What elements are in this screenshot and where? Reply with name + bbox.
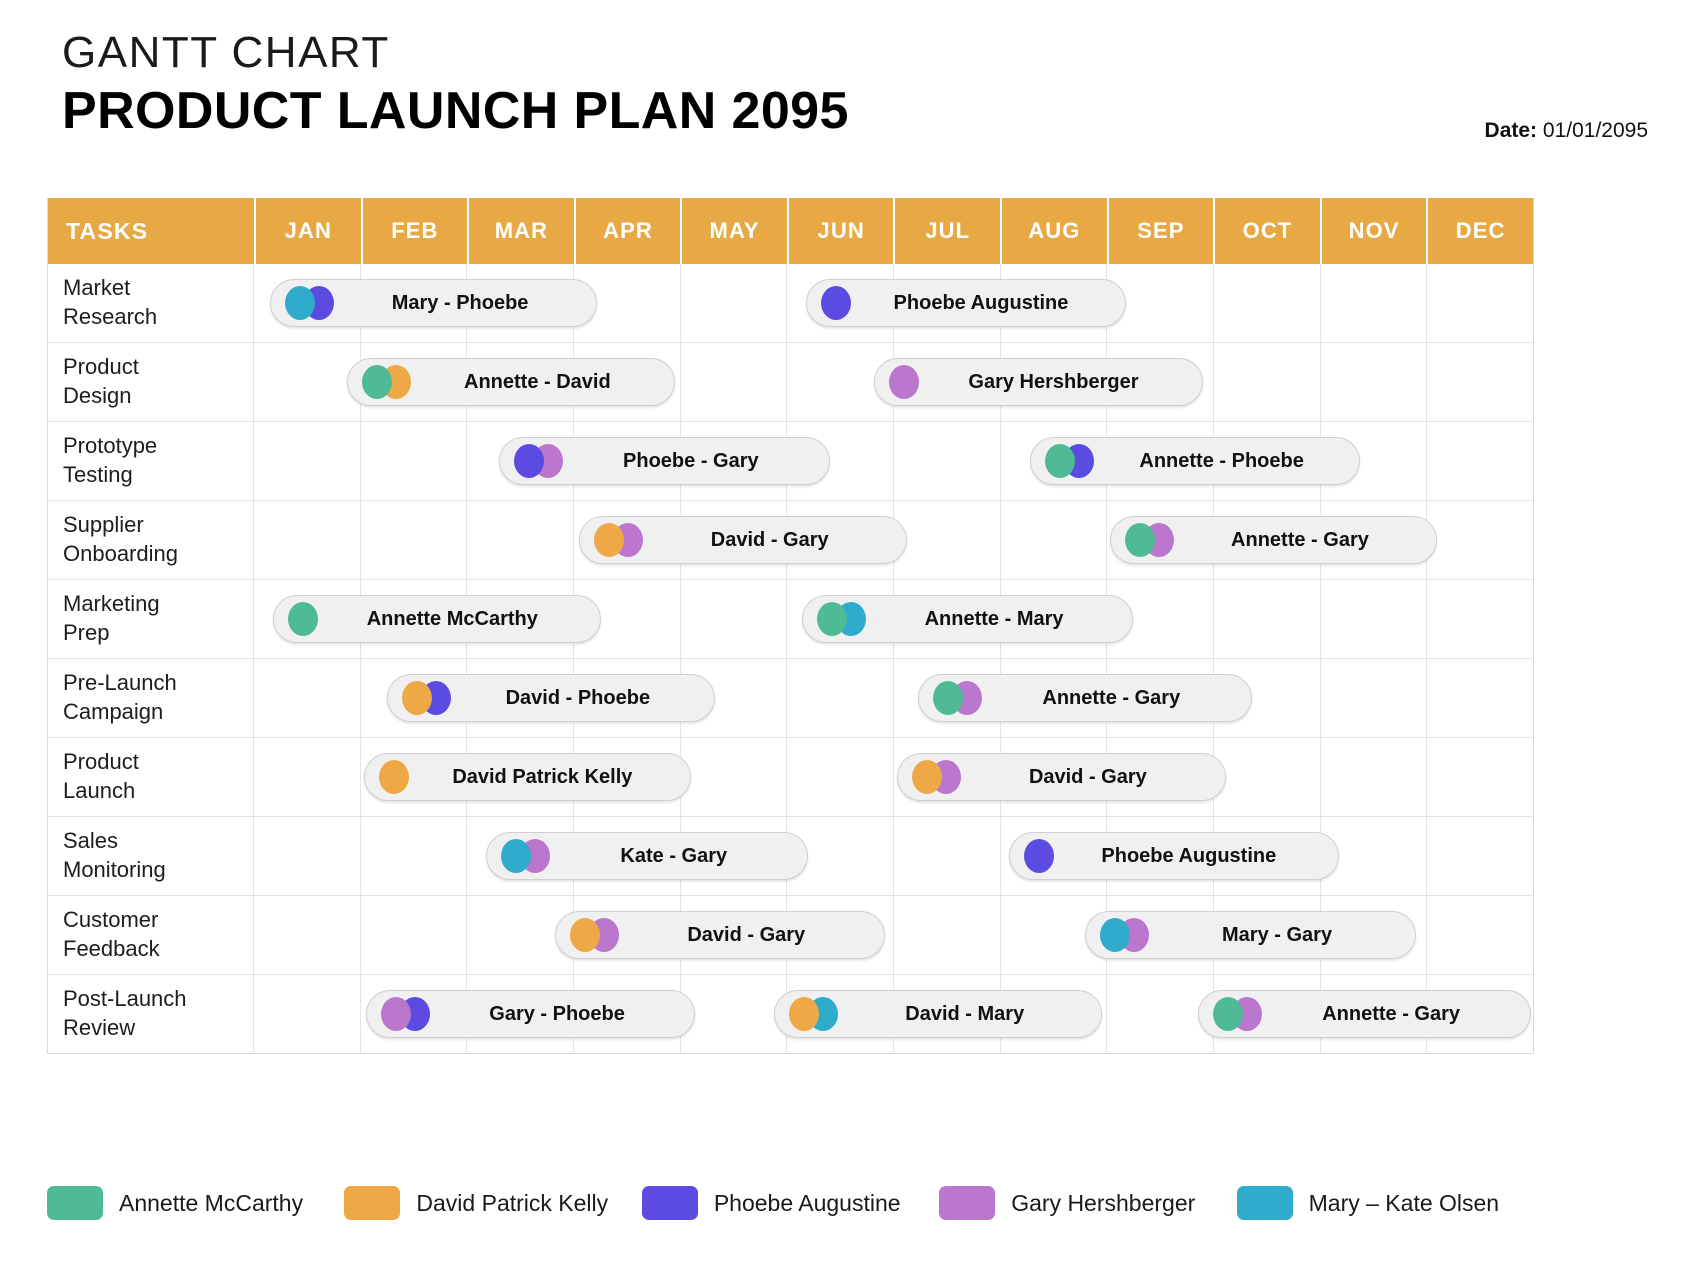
gridline	[894, 817, 1001, 895]
gantt-bar-label: Mary - Phoebe	[334, 292, 596, 315]
gridline	[361, 501, 468, 579]
assignee-avatars	[570, 918, 619, 952]
task-name-cell: MarketResearch	[48, 264, 254, 342]
gridline	[1001, 501, 1108, 579]
legend-label: Phoebe Augustine	[714, 1190, 901, 1217]
task-name-cell: SupplierOnboarding	[48, 501, 254, 579]
timeline-lane: Gary - PhoebeDavid - MaryAnnette - Gary	[254, 975, 1533, 1053]
gridline	[361, 896, 468, 974]
gridline	[1427, 580, 1533, 658]
gantt-bar-label: Annette - Phoebe	[1094, 450, 1359, 473]
assignee-dot-icon	[379, 760, 409, 794]
assignee-dot-icon	[570, 918, 600, 952]
gridline	[1321, 264, 1428, 342]
gantt-bar-label: Gary - Phoebe	[430, 1003, 694, 1026]
gantt-bar-label: Annette - Gary	[1262, 1003, 1530, 1026]
page-title: PRODUCT LAUNCH PLAN 2095	[62, 82, 849, 142]
assignee-avatars	[514, 444, 563, 478]
gantt-bar[interactable]: David - Gary	[579, 516, 907, 564]
task-name-line: Pre-Launch	[63, 669, 253, 698]
table-body: MarketResearchMary - PhoebePhoebe August…	[48, 264, 1533, 1053]
gridline	[787, 659, 894, 737]
table-row: MarketingPrepAnnette McCarthyAnnette - M…	[48, 579, 1533, 658]
gantt-bar[interactable]: David - Gary	[555, 911, 885, 959]
assignee-avatars	[594, 523, 643, 557]
month-header-may: MAY	[680, 198, 787, 264]
gantt-bar-label: Annette - Mary	[866, 608, 1132, 631]
gantt-bar-label: Phoebe - Gary	[563, 450, 828, 473]
table-row: PrototypeTestingPhoebe - GaryAnnette - P…	[48, 421, 1533, 500]
timeline-lane: David - GaryMary - Gary	[254, 896, 1533, 974]
legend-label: Gary Hershberger	[1011, 1190, 1195, 1217]
gridline	[1321, 580, 1428, 658]
assignee-dot-icon	[288, 602, 318, 636]
table-row: ProductDesignAnnette - DavidGary Hershbe…	[48, 342, 1533, 421]
month-header-oct: OCT	[1213, 198, 1320, 264]
assignee-dot-icon	[1213, 997, 1243, 1031]
assignee-avatars	[1045, 444, 1094, 478]
timeline-lane: Phoebe - GaryAnnette - Phoebe	[254, 422, 1533, 500]
month-header-jan: JAN	[254, 198, 361, 264]
task-name-line: Prep	[63, 619, 253, 648]
legend-label: Mary – Kate Olsen	[1309, 1190, 1499, 1217]
timeline-lane: David - GaryAnnette - Gary	[254, 501, 1533, 579]
gantt-bar-label: Phoebe Augustine	[1054, 845, 1338, 868]
assignee-avatars	[362, 365, 411, 399]
assignee-avatars	[1024, 839, 1054, 873]
legend-item-annette: Annette McCarthy	[47, 1186, 344, 1220]
assignee-dot-icon	[933, 681, 963, 715]
date-value: 01/01/2095	[1543, 119, 1648, 142]
gridline	[1427, 659, 1533, 737]
gridline	[894, 501, 1001, 579]
month-header-feb: FEB	[361, 198, 468, 264]
month-header-jun: JUN	[787, 198, 894, 264]
assignee-dot-icon	[889, 365, 919, 399]
month-header-nov: NOV	[1320, 198, 1427, 264]
gridline	[1214, 343, 1321, 421]
legend-label: Annette McCarthy	[119, 1190, 303, 1217]
assignee-avatars	[501, 839, 550, 873]
timeline-lane: Mary - PhoebePhoebe Augustine	[254, 264, 1533, 342]
assignee-dot-icon	[594, 523, 624, 557]
gantt-bar-label: David - Gary	[619, 924, 884, 947]
assignee-dot-icon	[821, 286, 851, 320]
gridline	[1214, 580, 1321, 658]
gantt-bar[interactable]: David - Gary	[897, 753, 1226, 801]
gridline	[1427, 896, 1533, 974]
task-name-line: Monitoring	[63, 856, 253, 885]
timeline-lane: Annette McCarthyAnnette - Mary	[254, 580, 1533, 658]
gridline	[681, 738, 788, 816]
gridline	[254, 975, 361, 1053]
month-header-mar: MAR	[467, 198, 574, 264]
gridline	[254, 422, 361, 500]
assignee-dot-icon	[285, 286, 315, 320]
gridline	[1427, 817, 1533, 895]
legend-swatch	[344, 1186, 400, 1220]
table-header-row: TASKS JANFEBMARAPRMAYJUNJULAUGSEPOCTNOVD…	[48, 198, 1533, 264]
assignee-avatars	[288, 602, 318, 636]
table-row: SalesMonitoringKate - GaryPhoebe Augusti…	[48, 816, 1533, 895]
gridline	[1321, 343, 1428, 421]
assignee-avatars	[381, 997, 430, 1031]
assignee-avatars	[402, 681, 451, 715]
assignee-dot-icon	[912, 760, 942, 794]
gridline	[1427, 738, 1533, 816]
gantt-bar-label: Mary - Gary	[1149, 924, 1414, 947]
gantt-bar[interactable]: Annette - David	[347, 358, 675, 406]
gridline	[361, 817, 468, 895]
task-name-line: Prototype	[63, 432, 253, 461]
date-block: Date: 01/01/2095	[1485, 119, 1648, 143]
legend-item-david: David Patrick Kelly	[344, 1186, 641, 1220]
gantt-bar[interactable]: Phoebe Augustine	[1009, 832, 1339, 880]
legend-swatch	[1237, 1186, 1293, 1220]
task-name-cell: ProductDesign	[48, 343, 254, 421]
task-name-line: Customer	[63, 906, 253, 935]
timeline-lane: David Patrick KellyDavid - Gary	[254, 738, 1533, 816]
gridline	[254, 659, 361, 737]
assignee-dot-icon	[514, 444, 544, 478]
legend-swatch	[939, 1186, 995, 1220]
task-name-line: Design	[63, 382, 253, 411]
task-name-line: Launch	[63, 777, 253, 806]
gantt-bar[interactable]: Gary Hershberger	[874, 358, 1202, 406]
gridline	[787, 738, 894, 816]
kicker-label: GANTT CHART	[62, 30, 849, 76]
gantt-bar[interactable]: Gary - Phoebe	[366, 990, 695, 1038]
legend-item-mary: Mary – Kate Olsen	[1237, 1186, 1534, 1220]
gantt-bar-label: Annette McCarthy	[318, 608, 600, 631]
assignee-dot-icon	[1125, 523, 1155, 557]
table-row: Pre-LaunchCampaignDavid - PhoebeAnnette …	[48, 658, 1533, 737]
gridline	[361, 422, 468, 500]
month-gridlines	[254, 817, 1533, 895]
gantt-bar[interactable]: Kate - Gary	[486, 832, 808, 880]
gantt-chart-page: GANTT CHART PRODUCT LAUNCH PLAN 2095 Dat…	[0, 0, 1700, 1275]
task-name-line: Research	[63, 303, 253, 332]
gantt-bar[interactable]: Annette - Mary	[802, 595, 1133, 643]
assignee-dot-icon	[1045, 444, 1075, 478]
timeline-lane: David - PhoebeAnnette - Gary	[254, 659, 1533, 737]
gridline	[681, 343, 788, 421]
timeline-lane: Annette - DavidGary Hershberger	[254, 343, 1533, 421]
gantt-bar-label: Annette - David	[411, 371, 674, 394]
legend-swatch	[47, 1186, 103, 1220]
gantt-bar-label: Gary Hershberger	[919, 371, 1201, 394]
gantt-bar-label: David - Gary	[961, 766, 1225, 789]
assignee-dot-icon	[1024, 839, 1054, 873]
assignee-dot-icon	[1100, 918, 1130, 952]
assignee-dot-icon	[501, 839, 531, 873]
gridline	[254, 896, 361, 974]
legend-label: David Patrick Kelly	[416, 1190, 608, 1217]
gridline	[254, 501, 361, 579]
task-name-line: Campaign	[63, 698, 253, 727]
legend-swatch	[642, 1186, 698, 1220]
gantt-bar[interactable]: Annette McCarthy	[273, 595, 601, 643]
assignee-avatars	[1213, 997, 1262, 1031]
gridline	[254, 817, 361, 895]
gantt-bar[interactable]: Annette - Gary	[918, 674, 1252, 722]
task-name-line: Supplier	[63, 511, 253, 540]
gantt-bar[interactable]: David - Phoebe	[387, 674, 715, 722]
gantt-bar-label: David Patrick Kelly	[409, 766, 690, 789]
task-name-line: Testing	[63, 461, 253, 490]
gridline	[894, 896, 1001, 974]
task-name-line: Sales	[63, 827, 253, 856]
gantt-bar[interactable]: Mary - Gary	[1085, 911, 1415, 959]
title-block: GANTT CHART PRODUCT LAUNCH PLAN 2095	[62, 30, 849, 142]
table-row: SupplierOnboardingDavid - GaryAnnette - …	[48, 500, 1533, 579]
month-header-jul: JUL	[893, 198, 1000, 264]
task-name-line: Feedback	[63, 935, 253, 964]
task-name-cell: PrototypeTesting	[48, 422, 254, 500]
gridline	[1214, 264, 1321, 342]
assignee-avatars	[1125, 523, 1174, 557]
legend: Annette McCarthyDavid Patrick KellyPhoeb…	[47, 1186, 1534, 1220]
gridline	[1214, 738, 1321, 816]
assignee-avatars	[789, 997, 838, 1031]
gantt-bar[interactable]: David Patrick Kelly	[364, 753, 691, 801]
gantt-bar-label: David - Phoebe	[451, 687, 714, 710]
table-row: ProductLaunchDavid Patrick KellyDavid - …	[48, 737, 1533, 816]
assignee-avatars	[1100, 918, 1149, 952]
task-name-line: Onboarding	[63, 540, 253, 569]
gridline	[681, 975, 788, 1053]
gridline	[1427, 343, 1533, 421]
assignee-dot-icon	[817, 602, 847, 636]
gantt-bar-label: David - Mary	[838, 1003, 1101, 1026]
task-name-cell: Pre-LaunchCampaign	[48, 659, 254, 737]
assignee-avatars	[912, 760, 961, 794]
table-row: Post-LaunchReviewGary - PhoebeDavid - Ma…	[48, 974, 1533, 1053]
tasks-column-header: TASKS	[48, 198, 254, 264]
task-name-cell: ProductLaunch	[48, 738, 254, 816]
assignee-avatars	[933, 681, 982, 715]
task-name-cell: Post-LaunchReview	[48, 975, 254, 1053]
table-row: MarketResearchMary - PhoebePhoebe August…	[48, 264, 1533, 342]
gantt-bar[interactable]: Mary - Phoebe	[270, 279, 597, 327]
date-label: Date:	[1485, 119, 1538, 142]
task-name-cell: SalesMonitoring	[48, 817, 254, 895]
task-name-cell: CustomerFeedback	[48, 896, 254, 974]
month-header-dec: DEC	[1426, 198, 1533, 264]
month-header-apr: APR	[574, 198, 681, 264]
gridline	[1427, 264, 1533, 342]
task-name-cell: MarketingPrep	[48, 580, 254, 658]
gantt-bar-label: Annette - Gary	[982, 687, 1251, 710]
assignee-dot-icon	[402, 681, 432, 715]
task-name-line: Post-Launch	[63, 985, 253, 1014]
gantt-bar-label: Kate - Gary	[550, 845, 807, 868]
assignee-dot-icon	[381, 997, 411, 1031]
gantt-bar-label: Annette - Gary	[1174, 529, 1436, 552]
gridline	[681, 580, 788, 658]
assignee-avatars	[379, 760, 409, 794]
assignee-avatars	[889, 365, 919, 399]
task-name-line: Review	[63, 1014, 253, 1043]
gantt-bar[interactable]: Phoebe Augustine	[806, 279, 1126, 327]
gantt-bar[interactable]: Annette - Gary	[1110, 516, 1437, 564]
assignee-dot-icon	[789, 997, 819, 1031]
assignee-avatars	[285, 286, 334, 320]
month-header-aug: AUG	[1000, 198, 1107, 264]
gridline	[1427, 501, 1533, 579]
gridline	[467, 501, 574, 579]
gridline	[1321, 738, 1428, 816]
legend-item-phoebe: Phoebe Augustine	[642, 1186, 939, 1220]
gantt-bar-label: Phoebe Augustine	[851, 292, 1125, 315]
gantt-bar-label: David - Gary	[643, 529, 906, 552]
gridline	[254, 738, 361, 816]
month-header-sep: SEP	[1107, 198, 1214, 264]
task-name-line: Market	[63, 274, 253, 303]
gridline	[1427, 422, 1533, 500]
gantt-bar[interactable]: David - Mary	[774, 990, 1102, 1038]
task-name-line: Product	[63, 353, 253, 382]
assignee-avatars	[817, 602, 866, 636]
timeline-lane: Kate - GaryPhoebe Augustine	[254, 817, 1533, 895]
gantt-table: TASKS JANFEBMARAPRMAYJUNJULAUGSEPOCTNOVD…	[47, 198, 1534, 1054]
task-name-line: Marketing	[63, 590, 253, 619]
legend-item-gary: Gary Hershberger	[939, 1186, 1236, 1220]
table-row: CustomerFeedbackDavid - GaryMary - Gary	[48, 895, 1533, 974]
gantt-bar[interactable]: Phoebe - Gary	[499, 437, 829, 485]
task-name-line: Product	[63, 748, 253, 777]
gridline	[254, 343, 361, 421]
gridline	[1321, 659, 1428, 737]
assignee-avatars	[821, 286, 851, 320]
gridline	[894, 422, 1001, 500]
gantt-bar[interactable]: Annette - Phoebe	[1030, 437, 1360, 485]
assignee-dot-icon	[362, 365, 392, 399]
gantt-bar[interactable]: Annette - Gary	[1198, 990, 1531, 1038]
gridline	[681, 264, 788, 342]
